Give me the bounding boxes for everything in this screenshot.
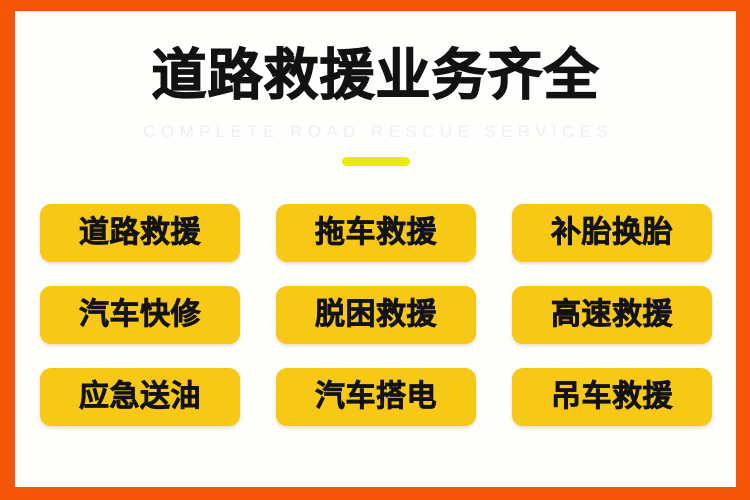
service-button-7[interactable]: 应急送油 bbox=[40, 368, 240, 426]
service-button-5[interactable]: 脱困救援 bbox=[276, 286, 476, 344]
service-button-9[interactable]: 吊车救援 bbox=[512, 368, 712, 426]
page-title: 道路救援业务齐全 bbox=[15, 44, 736, 106]
page-subtitle: COMPLETE ROAD RESCUE SERVICES bbox=[15, 121, 736, 143]
poster-canvas: 道路救援业务齐全 COMPLETE ROAD RESCUE SERVICES 道… bbox=[15, 11, 736, 487]
accent-divider bbox=[342, 157, 410, 166]
service-button-6[interactable]: 高速救援 bbox=[512, 286, 712, 344]
service-button-4[interactable]: 汽车快修 bbox=[40, 286, 240, 344]
service-button-2[interactable]: 拖车救援 bbox=[276, 204, 476, 262]
service-button-3[interactable]: 补胎换胎 bbox=[512, 204, 712, 262]
poster-frame: 道路救援业务齐全 COMPLETE ROAD RESCUE SERVICES 道… bbox=[0, 0, 750, 500]
service-button-grid: 道路救援 拖车救援 补胎换胎 汽车快修 脱困救援 高速救援 应急送油 汽车搭电 … bbox=[40, 204, 734, 426]
service-button-8[interactable]: 汽车搭电 bbox=[276, 368, 476, 426]
service-button-1[interactable]: 道路救援 bbox=[40, 204, 240, 262]
